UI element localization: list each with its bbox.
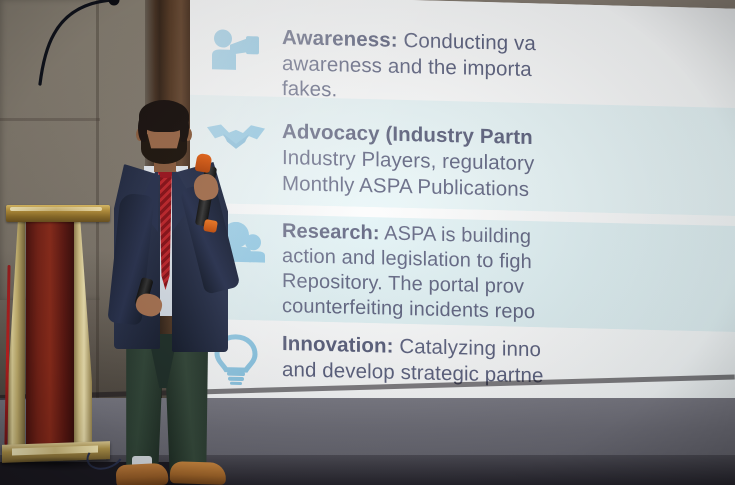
slide-row-awareness: Awareness: Conducting va awareness and t… xyxy=(190,23,735,113)
handheld-microphone-base xyxy=(203,219,218,233)
podium xyxy=(2,205,114,467)
person-with-binoculars-icon xyxy=(190,23,282,73)
slide-line-10: Catalyzing inno xyxy=(394,335,541,362)
slide-heading-awareness: Awareness: xyxy=(282,26,398,52)
podium-top-highlight xyxy=(10,207,102,211)
slide-text-research: Research: ASPA is building action and le… xyxy=(282,219,735,330)
slide-text-advocacy: Advocacy (Industry Partn Industry Player… xyxy=(282,119,735,208)
shoe-right xyxy=(170,461,227,485)
slide-row-research: Research: ASPA is building action and le… xyxy=(190,217,735,331)
podium-shadow xyxy=(0,457,118,471)
speaker xyxy=(108,98,258,485)
slide-heading-research: Research: xyxy=(282,220,380,244)
slide-heading-advocacy: Advocacy (Industry Partn xyxy=(282,120,533,149)
handheld-microphone-head xyxy=(195,153,213,173)
podium-rail-left xyxy=(8,221,25,451)
slide-content: Awareness: Conducting va awareness and t… xyxy=(190,0,735,428)
hair-side-left xyxy=(138,116,147,142)
slide-line-1: Conducting va xyxy=(398,29,536,55)
podium-rail-right xyxy=(72,221,92,451)
shoe-left xyxy=(115,463,168,485)
slide-line-6: ASPA is building xyxy=(380,222,531,248)
presentation-photo: Awareness: Conducting va awareness and t… xyxy=(0,0,735,485)
slide-row-advocacy: Advocacy (Industry Partn Industry Player… xyxy=(190,117,735,209)
slide-text-awareness: Awareness: Conducting va awareness and t… xyxy=(282,25,735,113)
projection-screen: Awareness: Conducting va awareness and t… xyxy=(190,0,735,429)
slide-heading-innovation: Innovation: xyxy=(282,332,394,358)
podium-body xyxy=(26,222,74,450)
